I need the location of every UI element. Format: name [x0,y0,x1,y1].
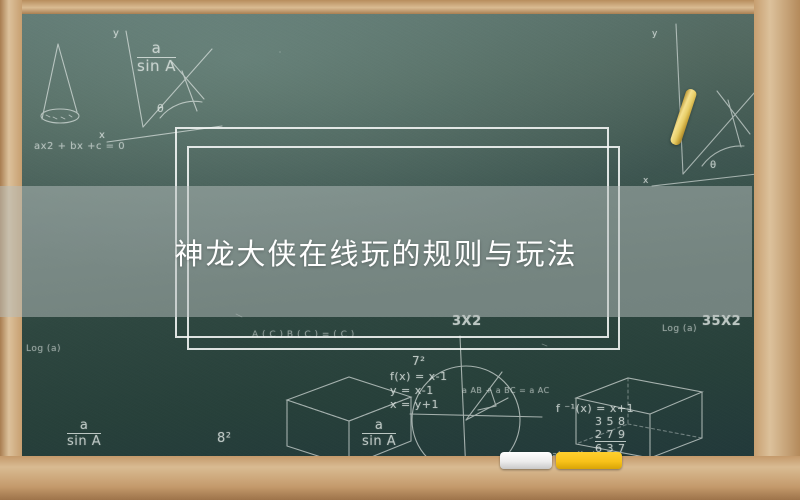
formula-vector-addition: a AB + a BC = a AC [462,386,550,395]
page-title: 神龙大侠在线玩的规则与玩法 [0,186,752,317]
fraction-denominator: sin A [137,57,176,75]
eraser-white-icon [500,452,552,469]
addend-two: 2 7 9 [595,429,626,442]
chalkboard-banner: a sin A y x θ ax2 + bx +c = 0 y x θ 35X2… [0,0,800,500]
formula-eight-squared: 8² [217,431,231,446]
label-log-a: Log (a) [26,344,61,354]
formula-a-over-sina-bottom-far-left: asin A [67,419,101,448]
fraction-numerator: a [137,41,176,57]
formula-y: y = x-1 [390,384,448,398]
frame-top-rail [0,0,800,14]
axis-label-x-right: x [643,176,649,186]
frame-right-rail [754,0,800,500]
formula-a-over-sina-bottom-left: asin A [362,419,396,448]
frame-bottom-tray [0,456,800,500]
addition-column: 3 5 8 2 7 9 6 3 7 [595,416,626,456]
axis-label-x-topleft: x [99,130,105,141]
axis-label-y-right: y [652,29,658,39]
formula-fx: f(x) = x-1 [390,370,448,384]
formula-a-over-sina-topleft: a sin A [137,41,176,75]
axes-angle-sketch-right [652,24,754,186]
axis-label-y-topleft: y [113,28,119,39]
formula-f-inverse: f ⁻¹(x) = x+1 [556,402,634,415]
angle-label-theta-topleft: θ [157,102,164,115]
formula-quadratic: ax2 + bx +c = 0 [34,141,125,152]
addend-one: 3 5 8 [595,416,626,429]
cone-icon [41,44,79,123]
formula-x: x = y+1 [390,398,448,412]
formula-seven-squared: 7² [412,354,425,368]
eraser-yellow-icon [556,452,622,469]
label-small-log: Log (a) [662,324,697,334]
angle-label-theta-right: θ [710,160,717,171]
formula-function-block: f(x) = x-1 y = x-1 x = y+1 [390,370,448,411]
